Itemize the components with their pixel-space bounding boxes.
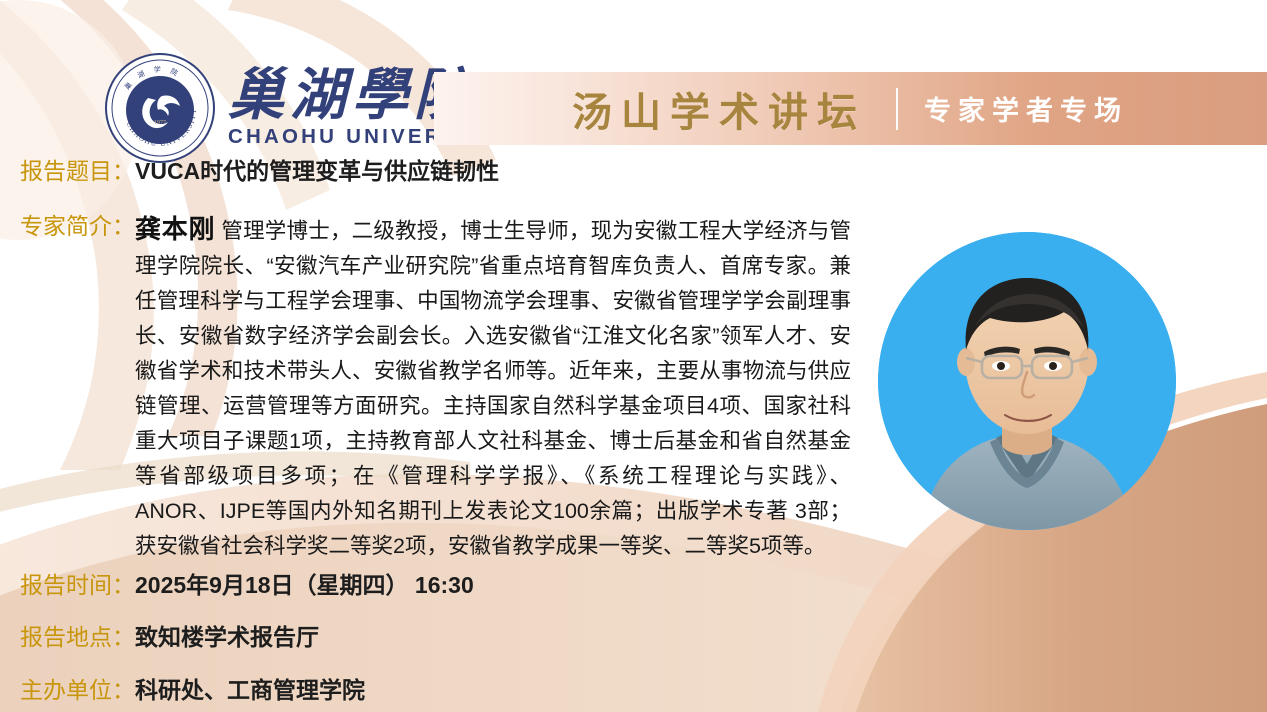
banner-title: 汤山学术讲坛 [572, 80, 866, 138]
report-time-label: 报告时间： [20, 571, 135, 600]
speaker-bio-row: 专家简介： 龚本刚 管理学博士，二级教授，博士生导师，现为安徽工程大学经济与管理… [20, 212, 851, 564]
organizer-value: 科研处、工商管理学院 [135, 676, 365, 705]
poster-header: 1977 CHAOHU UNIVERSITY 巢湖学院 巢湖學院 CHAOHU … [0, 0, 1267, 150]
report-place-row: 报告地点： 致知楼学术报告厅 [20, 623, 319, 652]
chaohu-university-emblem-icon: 1977 CHAOHU UNIVERSITY 巢湖学院 [104, 52, 216, 164]
speaker-portrait [878, 232, 1176, 530]
lecture-poster: 1977 CHAOHU UNIVERSITY 巢湖学院 巢湖學院 CHAOHU … [0, 0, 1267, 712]
organizer-row: 主办单位： 科研处、工商管理学院 [20, 676, 365, 705]
speaker-bio-text: 龚本刚 管理学博士，二级教授，博士生导师，现为安徽工程大学经济与管理学院院长、“… [135, 212, 851, 564]
lecture-series-banner: 汤山学术讲坛 专家学者专场 [434, 72, 1267, 145]
speaker-bio-paragraph: 管理学博士，二级教授，博士生导师，现为安徽工程大学经济与管理学院院长、“安徽汽车… [135, 219, 851, 558]
speaker-bio-label: 专家简介： [20, 212, 135, 241]
report-title-value: VUCA时代的管理变革与供应链韧性 [135, 157, 499, 186]
organizer-label: 主办单位： [20, 676, 135, 705]
report-place-label: 报告地点： [20, 623, 135, 652]
report-title-row: 报告题目： VUCA时代的管理变革与供应链韧性 [20, 157, 499, 186]
report-time-value: 2025年9月18日（星期四） 16:30 [135, 571, 474, 600]
speaker-name: 龚本刚 [135, 214, 215, 244]
svg-text:1977: 1977 [154, 120, 166, 126]
report-time-row: 报告时间： 2025年9月18日（星期四） 16:30 [20, 571, 474, 600]
report-place-value: 致知楼学术报告厅 [135, 623, 319, 652]
report-title-label: 报告题目： [20, 157, 135, 186]
speaker-portrait-illustration [878, 232, 1176, 530]
banner-divider [896, 88, 898, 130]
banner-subtitle: 专家学者专场 [924, 89, 1128, 128]
